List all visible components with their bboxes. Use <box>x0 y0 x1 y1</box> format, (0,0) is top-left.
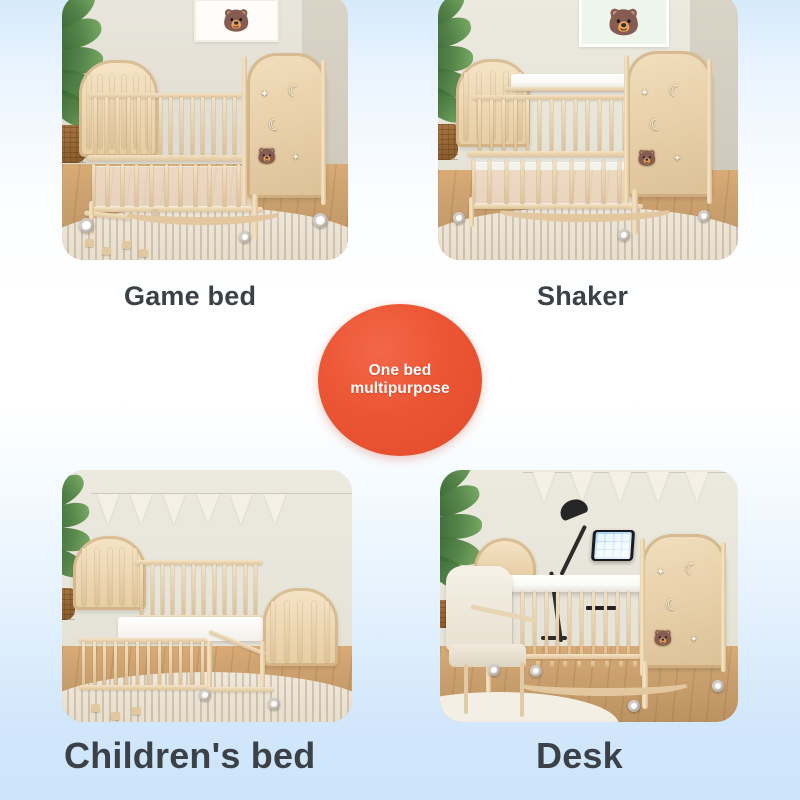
crib-shaker: ✦ ☾ ☾ 🐻 ✦ <box>450 47 726 239</box>
puzzle-piece <box>132 707 141 715</box>
tray-edge-rail <box>505 87 632 91</box>
small-star-cutout: ✦ <box>690 635 698 644</box>
rocker-runner <box>514 680 693 696</box>
headboard-slats <box>82 548 138 606</box>
puzzle-piece <box>111 712 120 720</box>
label-game-bed: Game bed <box>124 281 256 312</box>
center-badge[interactable]: One bed multipurpose <box>318 304 482 456</box>
bear-face-cutout: 🐻 <box>638 151 657 166</box>
bear-icon: 🐻 <box>223 10 250 32</box>
bear-icon: 🐻 <box>608 9 640 35</box>
label-childrens-bed: Children's bed <box>64 735 315 777</box>
caster-wheel-2 <box>628 700 640 712</box>
moon-cutout: ☾ <box>663 596 679 613</box>
badge-line-1: One bed <box>350 362 449 380</box>
desk-end-panel <box>642 534 726 668</box>
star-cutout: ✦ <box>656 568 664 578</box>
caster-wheel-1 <box>530 665 542 677</box>
framed-bear-art: 🐻 <box>579 0 669 47</box>
star-cutout: ✦ <box>260 90 268 100</box>
guard-rail-slats <box>140 564 257 617</box>
label-desk: Desk <box>536 735 623 777</box>
desk-chair-seat <box>449 644 526 667</box>
desk-post-left <box>640 538 645 676</box>
product-photo-desk[interactable]: ✦ ☾ ☾ 🐻 ✦ <box>440 470 738 722</box>
crib-side-slats <box>94 97 257 157</box>
extension-post <box>207 641 212 690</box>
product-photo-shaker[interactable]: 🐻 <box>438 0 738 260</box>
side-rail-slats <box>82 641 204 687</box>
scene-childrens-bed <box>62 470 352 722</box>
crib-footboard-panel <box>627 51 713 197</box>
crib-post-left <box>242 56 247 205</box>
badge-line-2: multipurpose <box>350 380 449 398</box>
rocker-runner <box>494 206 676 222</box>
crib-game-bed: ✦ ☾ ☾ 🐻 ✦ <box>73 53 336 239</box>
caster-wheel-1 <box>453 212 465 224</box>
caster-wheel-1 <box>79 218 94 233</box>
extension-post-2 <box>260 641 265 687</box>
puzzle-piece <box>102 247 111 255</box>
star-cutout: ✦ <box>640 89 648 99</box>
product-photo-game-bed[interactable]: 🐻 <box>62 0 348 260</box>
caster-wheel-3 <box>313 213 328 228</box>
caster-wheel-1 <box>199 689 211 701</box>
promo-canvas: 🐻 <box>0 0 800 800</box>
scene-game-bed: 🐻 <box>62 0 348 260</box>
bear-face-cutout: 🐻 <box>258 149 277 164</box>
desk-chair-leg-right <box>520 662 524 717</box>
label-shaker: Shaker <box>537 281 628 312</box>
crib-mid-rail <box>87 155 266 161</box>
extension-base-rail <box>207 687 274 692</box>
product-photo-childrens-bed[interactable] <box>62 470 352 722</box>
footboard-slats <box>271 601 329 663</box>
small-star-cutout: ✦ <box>292 153 300 162</box>
crib-post-right <box>321 60 326 205</box>
crib-footboard-panel <box>247 53 326 198</box>
puzzle-piece <box>85 239 94 247</box>
crib-side-slats <box>478 99 638 153</box>
chair-caster <box>488 664 500 676</box>
crib-lower-slats <box>92 164 255 209</box>
crib-mid-rail <box>467 151 649 157</box>
scene-desk: ✦ ☾ ☾ 🐻 ✦ <box>440 470 738 722</box>
bed-childrens <box>68 536 346 712</box>
desk-lower-shelf <box>508 661 637 667</box>
crib-post-left <box>624 55 629 204</box>
caster-mount <box>152 209 159 216</box>
puzzle-piece <box>91 704 100 712</box>
crib-leg-left <box>469 197 474 228</box>
bear-face-cutout: 🐻 <box>654 631 673 646</box>
caster-wheel-3 <box>712 680 724 692</box>
badge-text: One bed multipurpose <box>350 362 449 399</box>
side-rail-bottom <box>79 685 207 690</box>
caster-wheel-2 <box>268 698 280 710</box>
pennant-bunting <box>523 470 738 515</box>
scene-shaker: 🐻 <box>438 0 738 260</box>
pennant-bunting <box>91 485 352 540</box>
rocker-runner <box>121 209 284 225</box>
puzzle-piece <box>122 241 131 249</box>
crib-post-right <box>707 59 712 205</box>
caster-wheel-3 <box>698 210 710 222</box>
framed-bear-art: 🐻 <box>194 0 280 42</box>
small-star-cutout: ✦ <box>674 154 682 163</box>
puzzle-piece <box>139 249 148 257</box>
crib-lower-slats <box>472 160 638 206</box>
desk-post-right <box>721 542 726 673</box>
desk-chair-leg-left <box>464 664 468 714</box>
moon-cutout: ☾ <box>647 117 663 134</box>
